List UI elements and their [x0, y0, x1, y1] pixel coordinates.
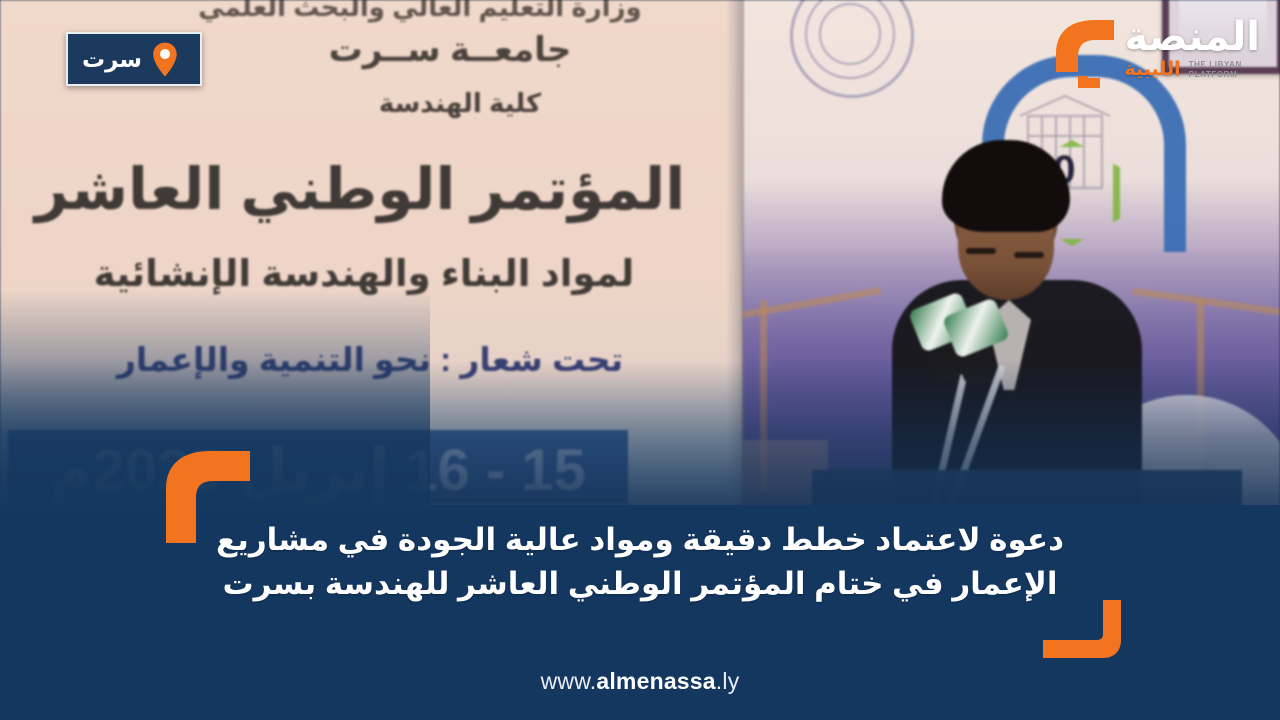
headline-line-2: الإعمار في ختام المؤتمر الوطني العاشر لل… [150, 562, 1130, 606]
location-badge[interactable]: سرت [66, 32, 202, 86]
brand-name-en: THE LIBYAN PLATFORM [1189, 60, 1242, 80]
speaker-brow [1014, 252, 1044, 258]
brand-bracket-mark-icon [1048, 14, 1120, 94]
brand-name-en-line2: PLATFORM [1189, 70, 1238, 79]
brand-name-ar-secondary: الليبية [1124, 58, 1180, 81]
headline-line-1: دعوة لاعتماد خطط دقيقة ومواد عالية الجود… [150, 518, 1130, 562]
brand-name-ar: المنصة [1124, 18, 1260, 56]
backdrop-ministry-line: وزارة التعليم العالي والبحث العلمي [120, 0, 720, 23]
url-brand: almenassa [596, 668, 715, 694]
url-prefix: www. [541, 668, 597, 694]
map-pin-icon [152, 42, 178, 76]
brand-logo[interactable]: المنصة THE LIBYAN PLATFORM الليبية [1048, 14, 1260, 94]
location-badge-label: سرت [82, 46, 142, 73]
brand-wordmark: المنصة THE LIBYAN PLATFORM الليبية [1124, 14, 1260, 81]
news-card: 10 [0, 0, 1280, 720]
quote-bracket-close-icon [1043, 600, 1121, 658]
brand-name-en-line1: THE LIBYAN [1189, 60, 1242, 69]
site-url[interactable]: www.almenassa.ly [0, 668, 1280, 695]
speaker-brow [966, 248, 996, 254]
url-suffix: .ly [716, 668, 740, 694]
backdrop-university-line: جامعــة ســرت [150, 30, 750, 70]
backdrop-conference-title: المؤتمر الوطني العاشر [0, 155, 730, 223]
brand-second-row: THE LIBYAN PLATFORM الليبية [1124, 58, 1241, 81]
backdrop-conference-subtitle: لمواد البناء والهندسة الإنشائية [0, 252, 734, 295]
backdrop-faculty-line: كلية الهندسة [180, 88, 740, 119]
headline: دعوة لاعتماد خطط دقيقة ومواد عالية الجود… [150, 518, 1130, 606]
